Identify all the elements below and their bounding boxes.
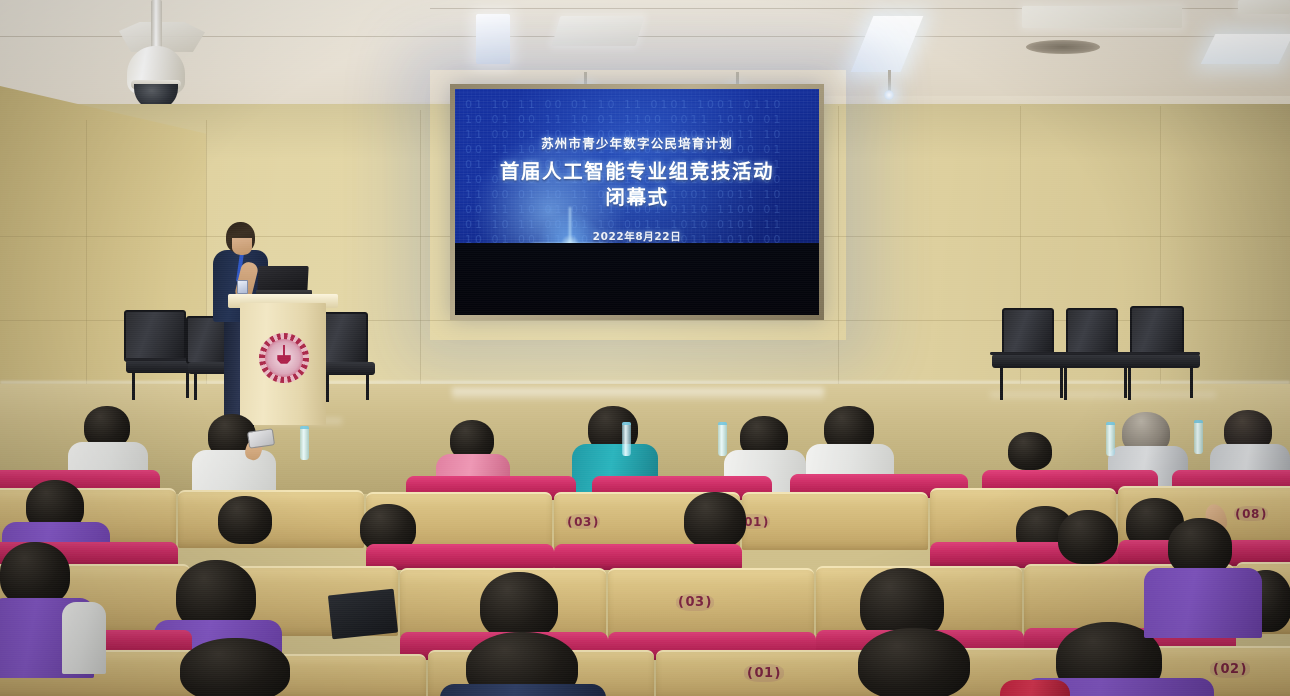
water-bottle: [300, 426, 309, 460]
screen-title-line1: 首届人工智能专业组竞技活动: [455, 159, 819, 185]
led-screen: 01 10 11 00 01 10 11 0101 1001 0110 10 0…: [455, 89, 819, 315]
laptop-screen: [257, 266, 308, 292]
audience-torso: [1000, 680, 1070, 696]
camera-pole: [151, 0, 162, 52]
screen-date: 2022年8月22日: [455, 229, 819, 244]
wall-seam: [86, 120, 87, 410]
seat-number: 08: [1234, 506, 1268, 521]
water-bottle: [718, 422, 727, 456]
water-bottle: [1194, 420, 1203, 454]
audience-seating-area: 03 01 08 05 03: [0, 392, 1290, 696]
audience-head: [480, 572, 558, 640]
audience-head: [684, 492, 746, 548]
ceiling-vent: [1026, 40, 1100, 54]
stage-chair-right-3: [1118, 306, 1206, 402]
seat-number: 03: [676, 594, 714, 611]
auditorium-photo: 01 10 11 00 01 10 11 0101 1001 0110 10 0…: [0, 0, 1290, 696]
tablet-device: [328, 589, 398, 640]
seat-cushion: [554, 544, 742, 570]
audience-torso: [62, 602, 106, 674]
audience-head: [858, 628, 970, 696]
seat-back: 01: [656, 650, 882, 696]
seat-number: 03: [566, 514, 600, 529]
screen-subtitle: 苏州市青少年数字公民培育计划: [455, 133, 819, 152]
screen-title-line2: 闭幕式: [455, 185, 819, 211]
seat-back: 01: [742, 492, 928, 550]
ceiling-light-panel: [1022, 6, 1182, 28]
wall-seam: [838, 106, 839, 406]
smartphone: [247, 428, 275, 448]
screen-lower-band: [455, 243, 819, 315]
screen-text-block: 苏州市青少年数字公民培育计划 首届人工智能专业组竞技活动 闭幕式 2022年8月…: [455, 133, 819, 244]
ceiling-light-panel: [476, 14, 510, 64]
audience-head: [180, 638, 290, 696]
led-screen-frame: 01 10 11 00 01 10 11 0101 1001 0110 10 0…: [450, 84, 824, 320]
ceiling-light-panel: [1238, 0, 1290, 14]
stage-chair-right-of-podium: [318, 312, 380, 396]
water-bottle: [622, 422, 631, 456]
audience-torso: [1144, 568, 1262, 638]
audience-head: [218, 496, 272, 544]
seat-back: 03: [608, 568, 814, 638]
audience-head: [1008, 432, 1052, 470]
audience-head: [1058, 510, 1118, 564]
seat-number: 01: [744, 664, 784, 682]
ceiling-light-panel: [552, 16, 645, 46]
downlight-stem: [888, 70, 891, 92]
ceiling-light-tube: [1201, 34, 1290, 64]
audience-head: [0, 542, 70, 606]
water-bottle: [1106, 422, 1115, 456]
audience-torso: [440, 684, 606, 696]
downlight: [884, 90, 894, 100]
presenter-badge: [237, 280, 248, 294]
seat-number: 02: [1210, 660, 1250, 678]
presenter-face: [232, 238, 252, 255]
wall-seam: [420, 110, 421, 410]
